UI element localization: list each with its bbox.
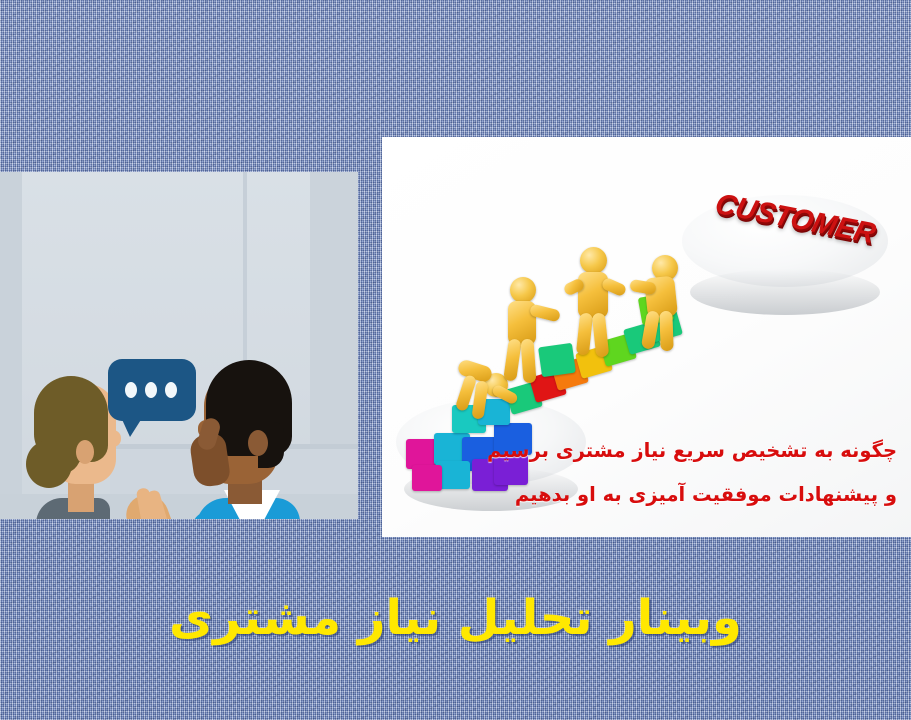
conversation-illustration	[0, 172, 358, 519]
speech-dot-2	[145, 382, 157, 398]
caption-line-2: و پیشنهادات موفقیت آمیزی به او بدهیم	[515, 483, 897, 506]
customer-podium-shade	[690, 269, 880, 315]
puzzle-bridge-illustration: CUSTOMER	[382, 137, 911, 537]
wall-panel-left	[0, 172, 22, 519]
woman-hair-bun	[26, 440, 72, 488]
customer-podium: CUSTOMER	[682, 195, 888, 323]
puzzle-piece-magenta-2	[412, 465, 442, 491]
caption-line-1: چگونه به تشخیص سریع نیاز مشتری برسیم	[487, 439, 897, 462]
webinar-title: وبینار تحلیل نیاز مشتری	[0, 586, 911, 650]
speech-dot-1	[125, 382, 137, 398]
speech-dot-3	[165, 382, 177, 398]
man-ear	[248, 430, 268, 456]
woman-ear	[76, 440, 94, 464]
puzzle-held-green	[538, 343, 576, 377]
slide-canvas: CUSTOMER	[0, 0, 911, 720]
